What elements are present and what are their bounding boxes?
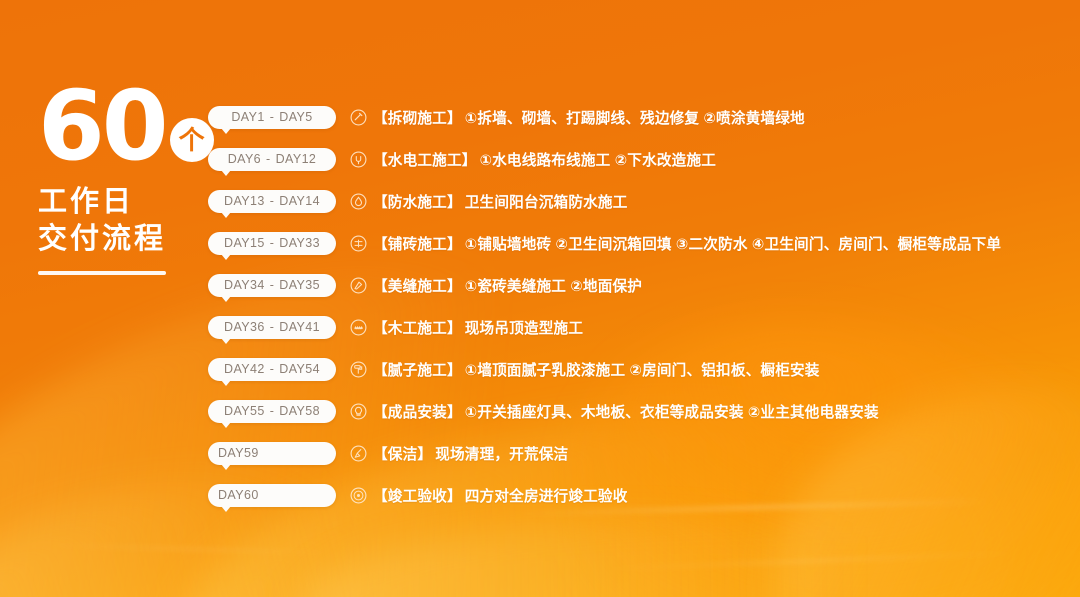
row-title: 【保洁】	[373, 443, 432, 464]
headline-number-row: 60 个	[38, 82, 218, 170]
row-detail: ①水电线路布线施工 ②下水改造施工	[480, 149, 716, 170]
day-badge[interactable]: DAY13-DAY14	[208, 190, 336, 213]
timeline-row: DAY59【保洁】现场清理，开荒保洁	[208, 432, 1070, 474]
trowel-circle-icon	[350, 277, 367, 294]
row-body: 【成品安装】①开关插座灯具、木地板、衣柜等成品安装 ②业主其他电器安装	[350, 401, 879, 422]
badge-day-end: DAY12	[276, 152, 317, 166]
day-badge-wrap: DAY55-DAY58	[208, 400, 336, 423]
day-badge-wrap: DAY59	[208, 442, 336, 465]
row-detail: 四方对全房进行竣工验收	[465, 485, 628, 506]
badge-day-end: DAY5	[279, 110, 312, 124]
poster-canvas: 60 个 工作日 交付流程 DAY1-DAY5【拆砌施工】①拆墙、砌墙、打踢脚线…	[0, 0, 1080, 597]
badge-dash: -	[265, 110, 280, 124]
headline-block: 60 个 工作日 交付流程	[38, 82, 218, 275]
row-body: 【水电工施工】①水电线路布线施工 ②下水改造施工	[350, 149, 716, 170]
badge-day-end: DAY33	[279, 236, 320, 250]
hammer-circle-icon	[350, 109, 367, 126]
day-badge-wrap: DAY6-DAY12	[208, 148, 336, 171]
day-badge[interactable]: DAY1-DAY5	[208, 106, 336, 129]
row-detail: 卫生间阳台沉箱防水施工	[465, 191, 628, 212]
day-badge[interactable]: DAY55-DAY58	[208, 400, 336, 423]
day-badge-wrap: DAY1-DAY5	[208, 106, 336, 129]
day-badge-wrap: DAY60	[208, 484, 336, 507]
row-body: 【防水施工】卫生间阳台沉箱防水施工	[350, 191, 628, 212]
row-title: 【铺砖施工】	[373, 233, 462, 254]
badge-day-end: DAY41	[279, 320, 320, 334]
day-badge[interactable]: DAY6-DAY12	[208, 148, 336, 171]
badge-day-end: DAY14	[279, 194, 320, 208]
headline-unit-badge: 个	[170, 118, 214, 162]
row-detail: ①拆墙、砌墙、打踢脚线、残边修复 ②喷涂黄墙绿地	[465, 107, 805, 128]
row-title: 【美缝施工】	[373, 275, 462, 296]
badge-day-start: DAY34	[224, 278, 265, 292]
saw-circle-icon	[350, 319, 367, 336]
day-badge[interactable]: DAY60	[208, 484, 336, 507]
headline-line-1: 工作日	[38, 184, 218, 221]
badge-dash: -	[265, 278, 280, 292]
row-detail: 现场清理，开荒保洁	[435, 443, 568, 464]
row-detail: ①瓷砖美缝施工 ②地面保护	[465, 275, 642, 296]
timeline-row: DAY42-DAY54【腻子施工】①墙顶面腻子乳胶漆施工 ②房间门、铝扣板、橱柜…	[208, 348, 1070, 390]
check-circle-icon	[350, 487, 367, 504]
headline-underline-rule	[38, 271, 166, 275]
day-badge[interactable]: DAY59	[208, 442, 336, 465]
broom-circle-icon	[350, 445, 367, 462]
row-title: 【腻子施工】	[373, 359, 462, 380]
timeline-row: DAY13-DAY14【防水施工】卫生间阳台沉箱防水施工	[208, 180, 1070, 222]
badge-day-start: DAY15	[224, 236, 265, 250]
day-badge-wrap: DAY13-DAY14	[208, 190, 336, 213]
badge-day-start: DAY42	[224, 362, 265, 376]
paintroller-circle-icon	[350, 361, 367, 378]
row-detail: ①墙顶面腻子乳胶漆施工 ②房间门、铝扣板、橱柜安装	[465, 359, 820, 380]
badge-dash: -	[265, 194, 280, 208]
badge-dash: -	[265, 404, 280, 418]
row-body: 【保洁】现场清理，开荒保洁	[350, 443, 568, 464]
row-detail: ①开关插座灯具、木地板、衣柜等成品安装 ②业主其他电器安装	[465, 401, 879, 422]
timeline-row: DAY34-DAY35【美缝施工】①瓷砖美缝施工 ②地面保护	[208, 264, 1070, 306]
day-badge[interactable]: DAY34-DAY35	[208, 274, 336, 297]
row-body: 【木工施工】现场吊顶造型施工	[350, 317, 583, 338]
headline-line-2: 交付流程	[38, 221, 218, 258]
day-badge[interactable]: DAY42-DAY54	[208, 358, 336, 381]
bulb-circle-icon	[350, 403, 367, 420]
badge-day-start: DAY1	[231, 110, 264, 124]
badge-dash: -	[265, 320, 280, 334]
badge-day-end: DAY58	[279, 404, 320, 418]
day-badge-wrap: DAY34-DAY35	[208, 274, 336, 297]
row-detail: ①铺贴墙地砖 ②卫生间沉箱回填 ③二次防水 ④卫生间门、房间门、橱柜等成品下单	[465, 233, 1001, 254]
badge-day-end: DAY54	[279, 362, 320, 376]
row-title: 【竣工验收】	[373, 485, 462, 506]
tile-circle-icon	[350, 235, 367, 252]
row-title: 【成品安装】	[373, 401, 462, 422]
row-body: 【腻子施工】①墙顶面腻子乳胶漆施工 ②房间门、铝扣板、橱柜安装	[350, 359, 820, 380]
row-body: 【拆砌施工】①拆墙、砌墙、打踢脚线、残边修复 ②喷涂黄墙绿地	[350, 107, 805, 128]
row-title: 【木工施工】	[373, 317, 462, 338]
waterdrop-circle-icon	[350, 193, 367, 210]
timeline-row: DAY55-DAY58【成品安装】①开关插座灯具、木地板、衣柜等成品安装 ②业主…	[208, 390, 1070, 432]
badge-day-start: DAY6	[228, 152, 261, 166]
badge-dash: -	[261, 152, 276, 166]
day-badge[interactable]: DAY36-DAY41	[208, 316, 336, 339]
row-detail: 现场吊顶造型施工	[465, 317, 583, 338]
badge-day-start: DAY55	[224, 404, 265, 418]
badge-dash: -	[265, 362, 280, 376]
row-body: 【美缝施工】①瓷砖美缝施工 ②地面保护	[350, 275, 642, 296]
day-badge-wrap: DAY42-DAY54	[208, 358, 336, 381]
row-title: 【水电工施工】	[373, 149, 477, 170]
headline-number: 60	[38, 82, 166, 170]
timeline-row: DAY6-DAY12【水电工施工】①水电线路布线施工 ②下水改造施工	[208, 138, 1070, 180]
badge-dash: -	[265, 236, 280, 250]
timeline-row-list: DAY1-DAY5【拆砌施工】①拆墙、砌墙、打踢脚线、残边修复 ②喷涂黄墙绿地D…	[208, 96, 1070, 516]
row-body: 【竣工验收】四方对全房进行竣工验收	[350, 485, 628, 506]
day-badge-wrap: DAY15-DAY33	[208, 232, 336, 255]
badge-day-start: DAY36	[224, 320, 265, 334]
badge-day-start: DAY59	[218, 446, 259, 460]
timeline-row: DAY60【竣工验收】四方对全房进行竣工验收	[208, 474, 1070, 516]
row-body: 【铺砖施工】①铺贴墙地砖 ②卫生间沉箱回填 ③二次防水 ④卫生间门、房间门、橱柜…	[350, 233, 1001, 254]
row-title: 【防水施工】	[373, 191, 462, 212]
badge-day-start: DAY13	[224, 194, 265, 208]
badge-day-end: DAY35	[279, 278, 320, 292]
timeline-row: DAY1-DAY5【拆砌施工】①拆墙、砌墙、打踢脚线、残边修复 ②喷涂黄墙绿地	[208, 96, 1070, 138]
row-title: 【拆砌施工】	[373, 107, 462, 128]
timeline-row: DAY15-DAY33【铺砖施工】①铺贴墙地砖 ②卫生间沉箱回填 ③二次防水 ④…	[208, 222, 1070, 264]
plug-circle-icon	[350, 151, 367, 168]
day-badge-wrap: DAY36-DAY41	[208, 316, 336, 339]
day-badge[interactable]: DAY15-DAY33	[208, 232, 336, 255]
badge-day-start: DAY60	[218, 488, 259, 502]
timeline-row: DAY36-DAY41【木工施工】现场吊顶造型施工	[208, 306, 1070, 348]
